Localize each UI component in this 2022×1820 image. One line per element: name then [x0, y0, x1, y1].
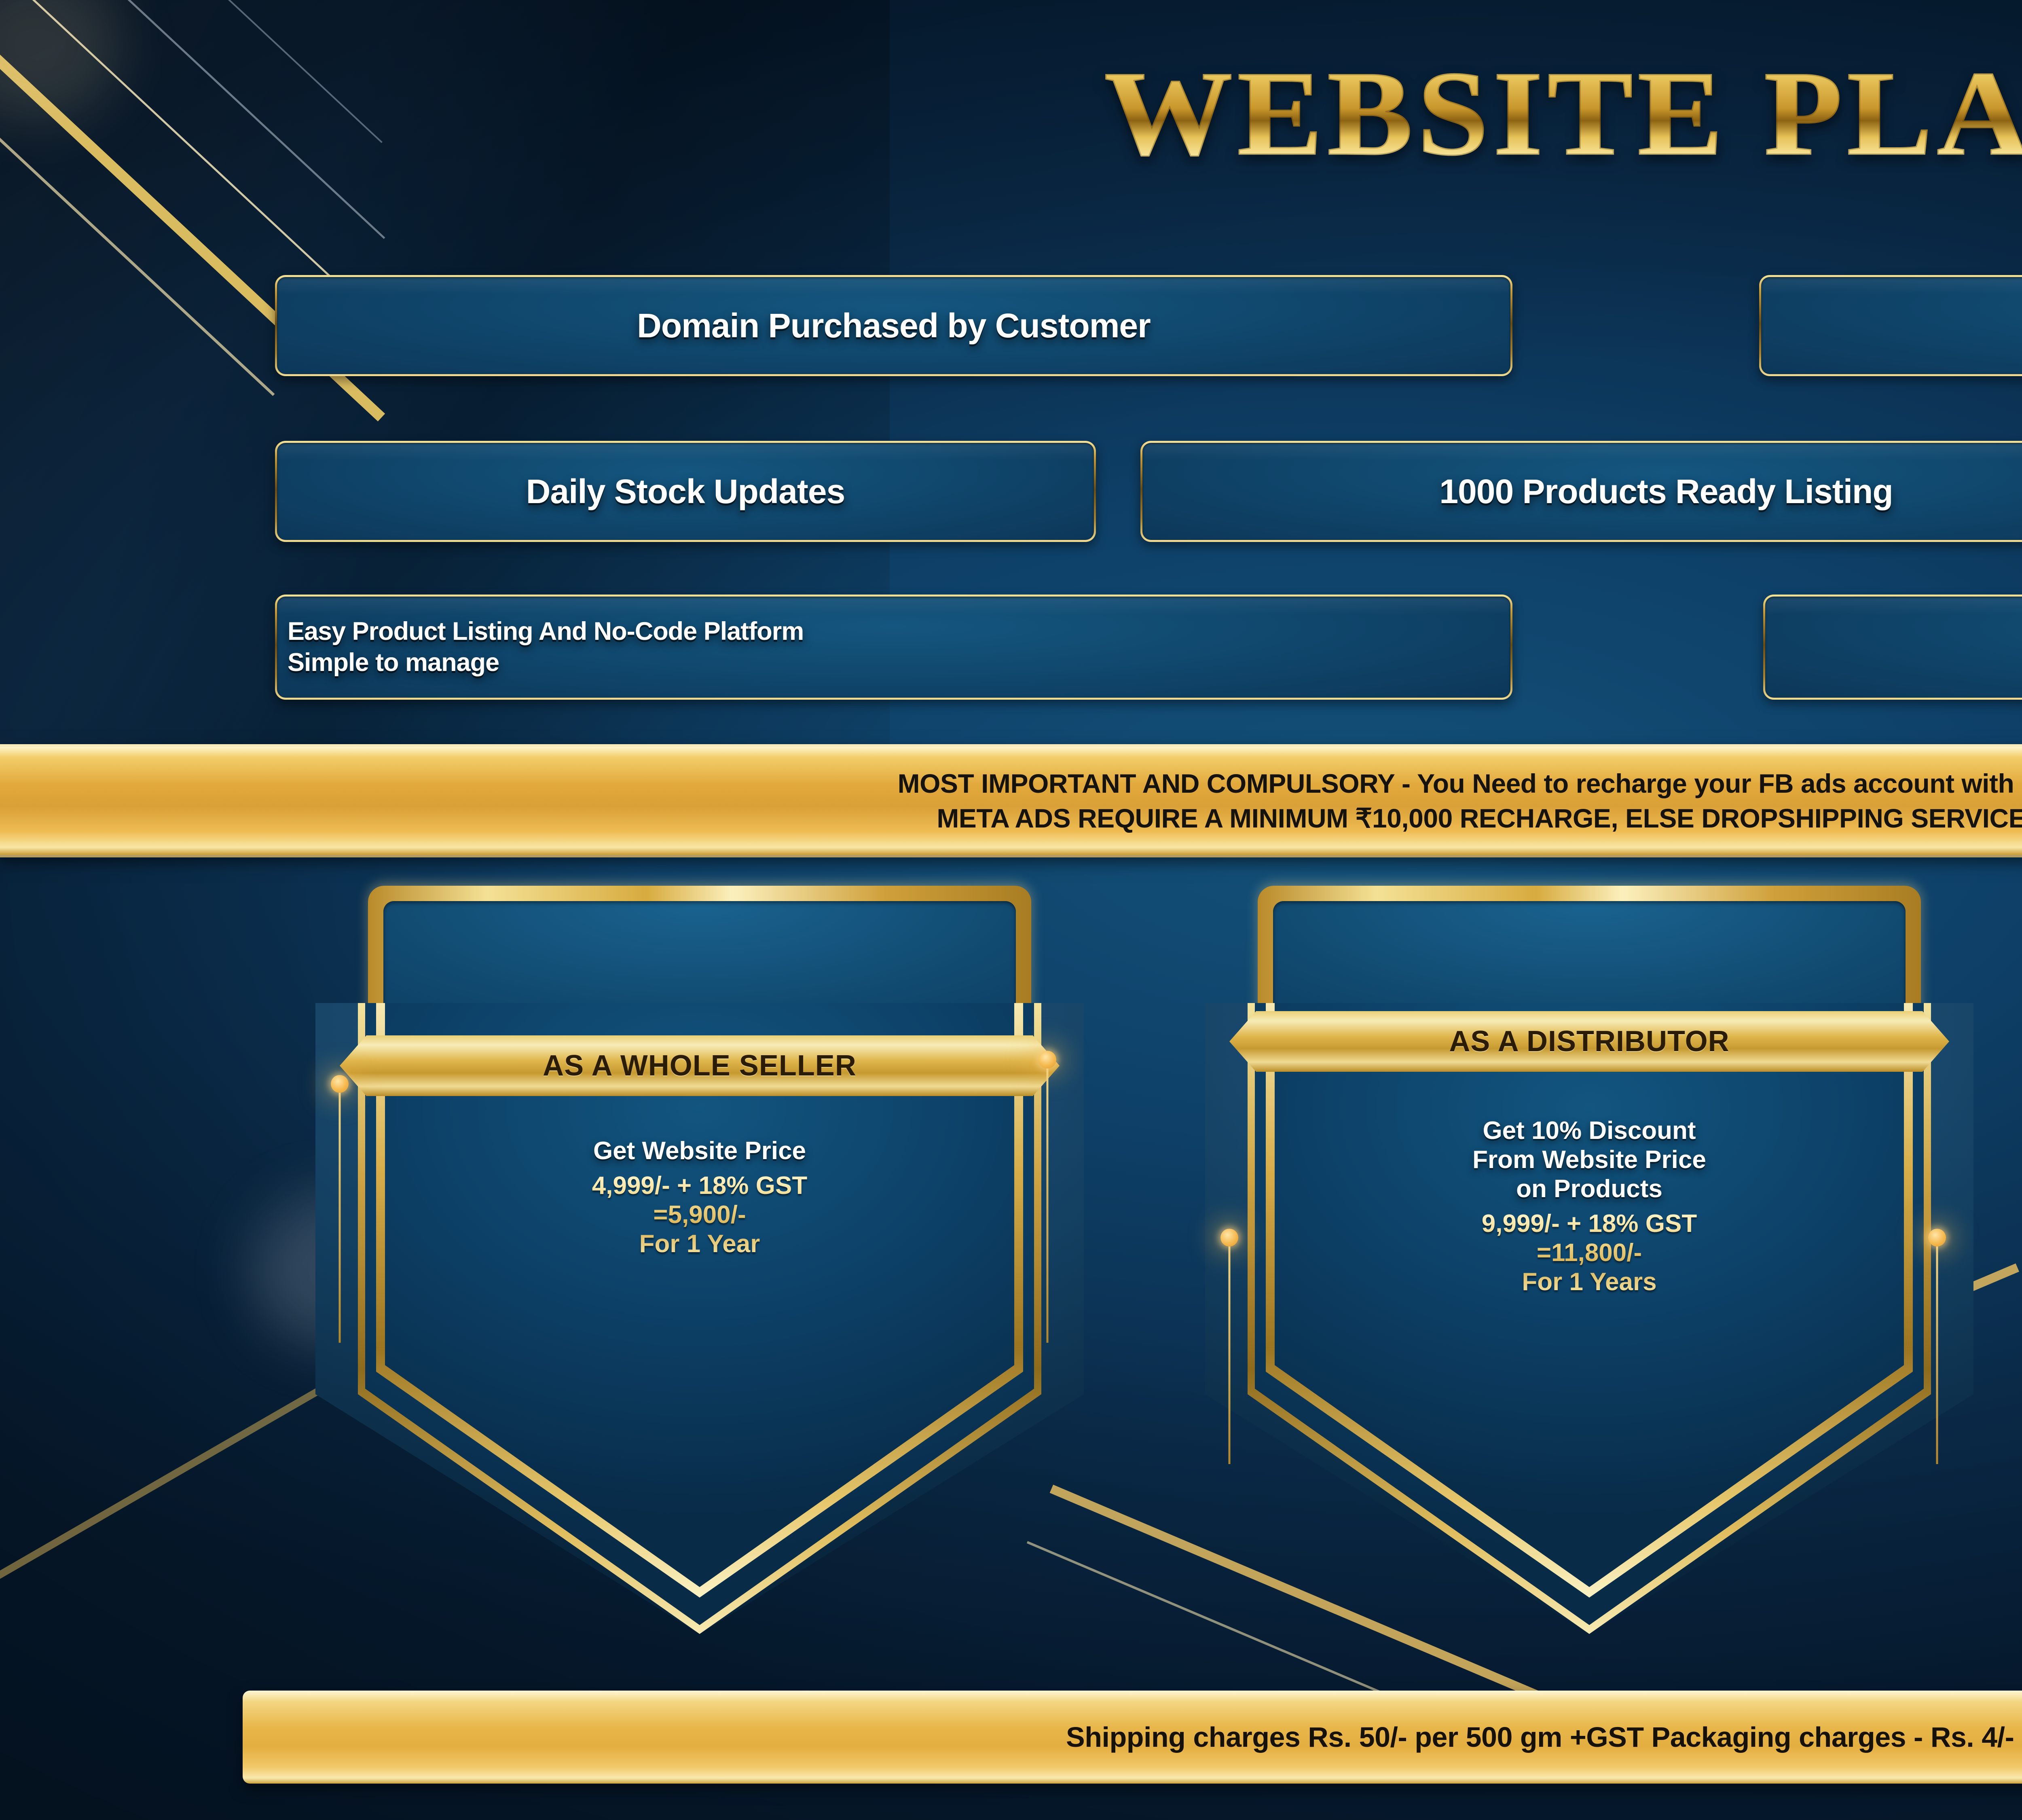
- plan-content: Get 10% Discount From Website Price on P…: [1205, 1116, 1973, 1296]
- feature-box-ready-listing[interactable]: 1000 Products Ready Listing: [1140, 441, 2022, 542]
- banner-line-1-rest: You Need to recharge your FB ads account…: [1410, 768, 2022, 798]
- plan-ribbon: AS A WHOLE SELLER: [340, 1035, 1060, 1096]
- feature-box-google-ads-meta-pixel[interactable]: Google Ads & Meta Pixel Integration: [1763, 595, 2022, 700]
- plan-card-distributor[interactable]: AS A DISTRIBUTOR Get 10% Discount From W…: [1205, 886, 1973, 1654]
- shipping-charges-label: Shipping charges Rs. 50/- per 500 gm +GS…: [1066, 1721, 2022, 1753]
- plan-content: Get Website Price 4,999/- + 18% GST =5,9…: [315, 1136, 1084, 1259]
- banner-line-1-strong: MOST IMPORTANT AND COMPULSORY -: [898, 768, 1411, 798]
- plan-description: Get 10% Discount From Website Price on P…: [1205, 1116, 1973, 1204]
- banner-line-1: MOST IMPORTANT AND COMPULSORY - You Need…: [898, 768, 2022, 799]
- plan-description: Get Website Price: [315, 1136, 1084, 1166]
- shipping-charges-bar: Shipping charges Rs. 50/- per 500 gm +GS…: [243, 1691, 2022, 1784]
- feature-box-daily-stock-updates[interactable]: Daily Stock Updates: [275, 441, 1096, 542]
- card-frame-inner: [1266, 1003, 1913, 1598]
- feature-label: Domain Purchased by Customer: [637, 308, 1151, 343]
- feature-box-domain-purchased[interactable]: Domain Purchased by Customer: [275, 275, 1512, 376]
- banner-line-2: META ADS REQUIRE A MINIMUM ₹10,000 RECHA…: [937, 803, 2022, 834]
- feature-label: 1000 Products Ready Listing: [1439, 474, 1893, 509]
- feature-box-order-management[interactable]: Order Management Panel No Monthly Hostin…: [1759, 275, 2022, 376]
- plan-ribbon: AS A DISTRIBUTOR: [1229, 1011, 1949, 1072]
- feature-label: Daily Stock Updates: [526, 474, 845, 509]
- plan-price: 9,999/- + 18% GST =11,800/- For 1 Years: [1205, 1209, 1973, 1297]
- compulsory-notice-banner: MOST IMPORTANT AND COMPULSORY - You Need…: [0, 744, 2022, 857]
- feature-box-easy-product-listing[interactable]: Easy Product Listing And No-Code Platfor…: [275, 595, 1512, 700]
- plan-ribbon-label: AS A WHOLE SELLER: [543, 1049, 857, 1082]
- plan-ribbon-label: AS A DISTRIBUTOR: [1449, 1025, 1729, 1058]
- feature-label: Easy Product Listing And No-Code Platfor…: [277, 616, 804, 678]
- page-title: WEBSITE PLAN: [0, 53, 2022, 174]
- plan-price: 4,999/- + 18% GST =5,900/- For 1 Year: [315, 1171, 1084, 1259]
- plan-card-whole-seller[interactable]: AS A WHOLE SELLER Get Website Price 4,99…: [315, 886, 1084, 1654]
